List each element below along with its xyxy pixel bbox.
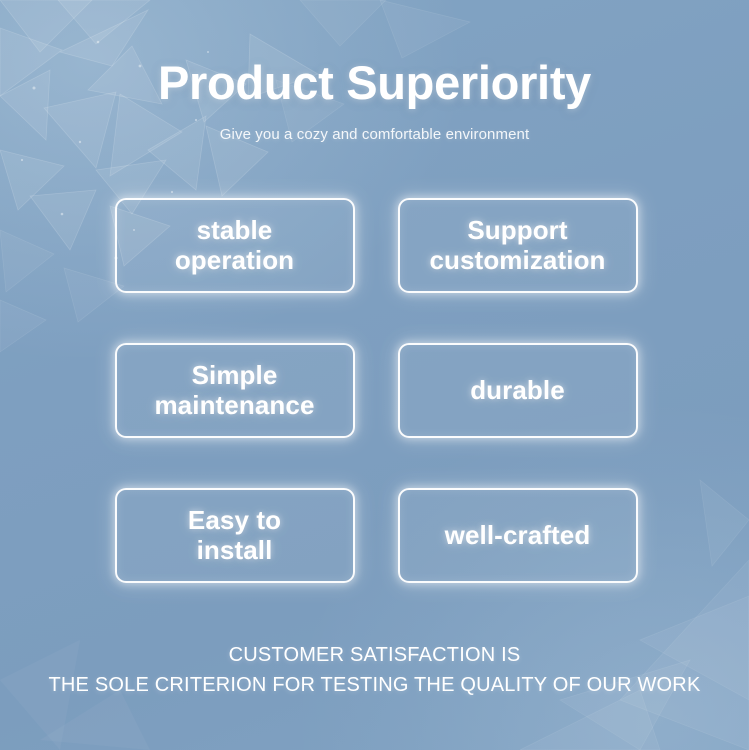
page-subtitle: Give you a cozy and comfortable environm… xyxy=(0,126,749,143)
poster-footer: CUSTOMER SATISFACTION IS THE SOLE CRITER… xyxy=(0,640,749,701)
footer-line-2: THE SOLE CRITERION FOR TESTING THE QUALI… xyxy=(0,670,749,700)
feature-grid: stable operation Support customization S… xyxy=(115,143,635,583)
feature-card-label: stable operation xyxy=(175,215,294,275)
footer-line-1: CUSTOMER SATISFACTION IS xyxy=(0,640,749,670)
product-superiority-poster: Product Superiority Give you a cozy and … xyxy=(0,0,749,750)
feature-card-simple-maintenance[interactable]: Simple maintenance xyxy=(115,343,355,438)
poster-header: Product Superiority Give you a cozy and … xyxy=(0,0,749,143)
feature-card-stable-operation[interactable]: stable operation xyxy=(115,198,355,293)
feature-card-label: well-crafted xyxy=(445,520,591,550)
feature-card-well-crafted[interactable]: well-crafted xyxy=(398,488,638,583)
feature-card-durable[interactable]: durable xyxy=(398,343,638,438)
feature-card-label: durable xyxy=(470,375,565,405)
feature-card-label: Support customization xyxy=(429,215,605,275)
feature-card-label: Easy to install xyxy=(188,505,281,565)
feature-card-support-customization[interactable]: Support customization xyxy=(398,198,638,293)
feature-card-label: Simple maintenance xyxy=(154,360,314,420)
page-title: Product Superiority xyxy=(0,58,749,108)
feature-card-easy-to-install[interactable]: Easy to install xyxy=(115,488,355,583)
